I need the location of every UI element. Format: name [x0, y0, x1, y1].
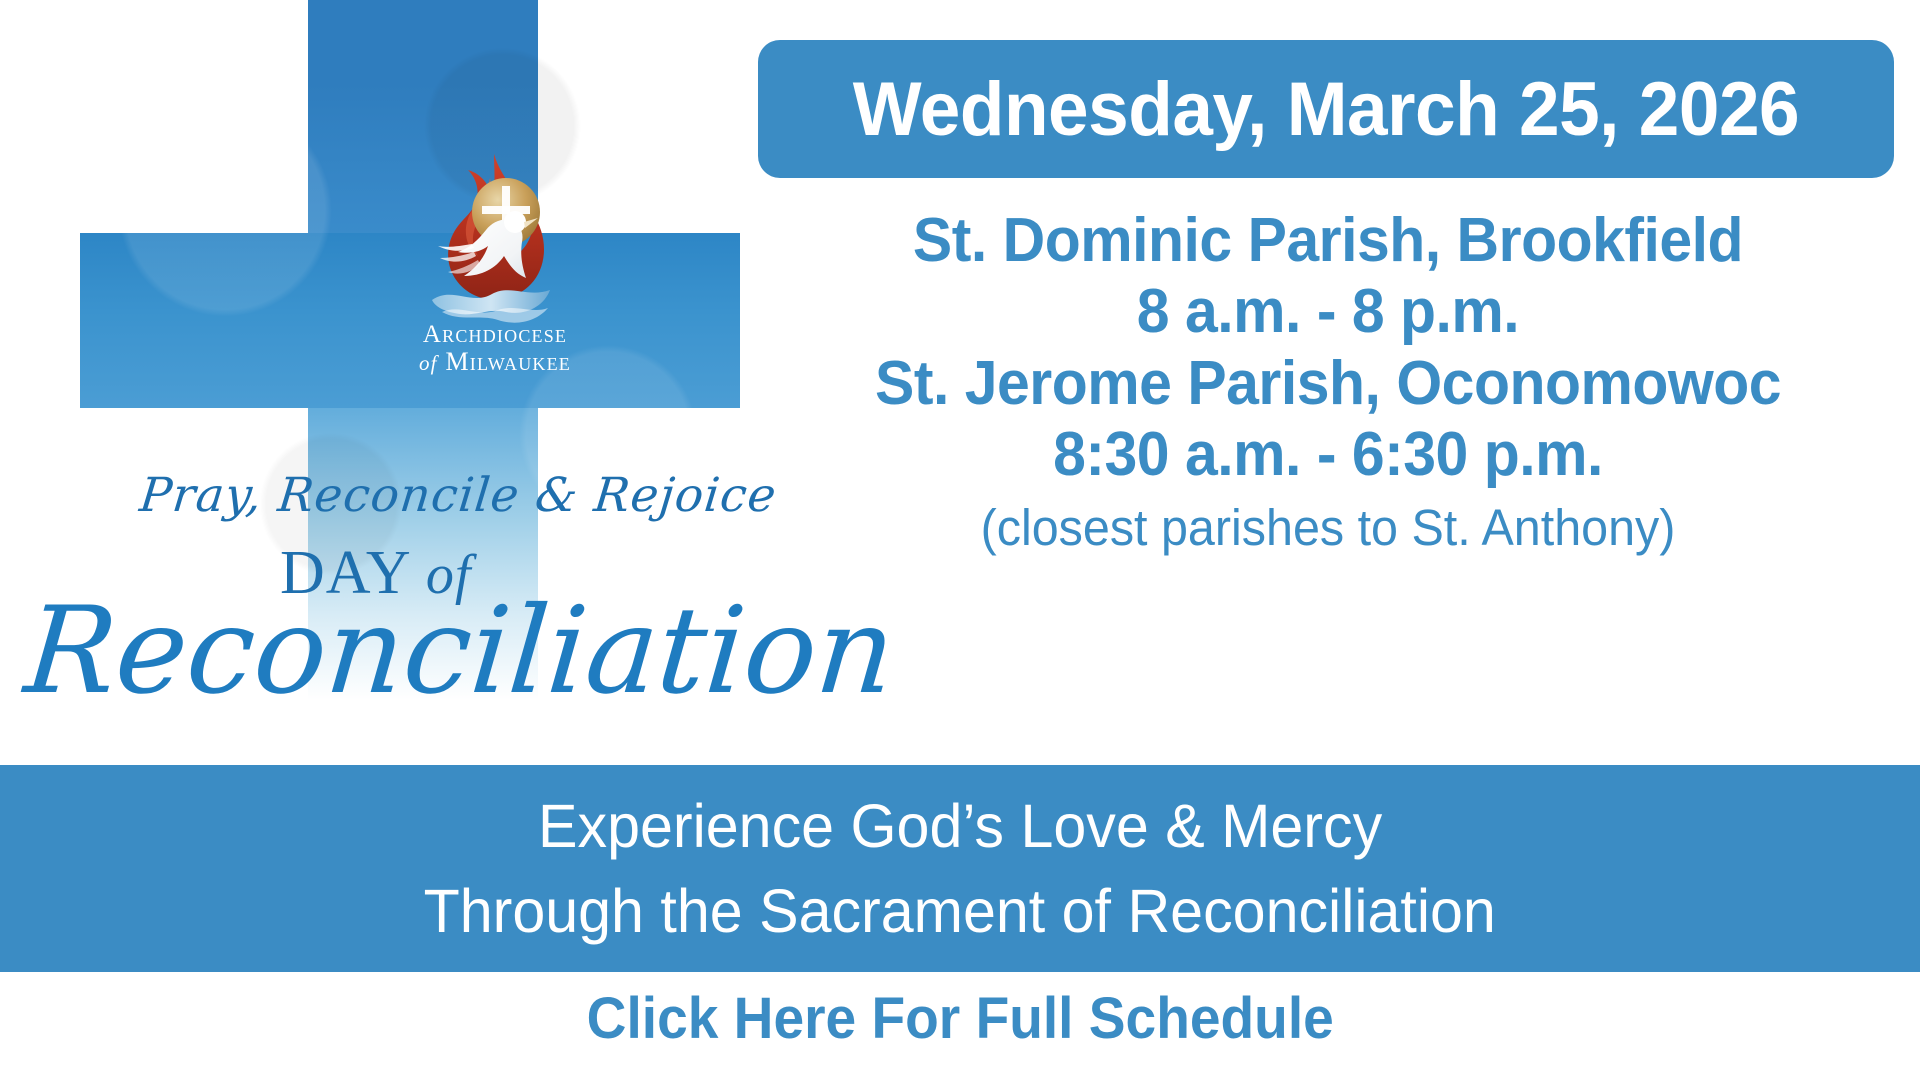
tagline-pray-reconcile-rejoice: Pray, Reconcile & Rejoice: [137, 468, 779, 523]
schedule-note: (closest parishes to St. Anthony): [787, 490, 1870, 567]
archdiocese-wordmark: Archdiocese of Milwaukee: [330, 322, 660, 375]
schedule-line-parish-1: St. Dominic Parish, Brookfield: [787, 205, 1870, 276]
date-banner: Wednesday, March 25, 2026: [758, 40, 1894, 178]
date-banner-text: Wednesday, March 25, 2026: [853, 66, 1799, 153]
reconciliation-script-title: Reconciliation: [21, 592, 900, 712]
wordmark-milwaukee: Milwaukee: [445, 347, 571, 376]
message-band: Experience God’s Love & Mercy Through th…: [0, 765, 1920, 972]
schedule-line-hours-1: 8 a.m. - 8 p.m.: [787, 276, 1870, 347]
schedule-line-parish-2: St. Jerome Parish, Oconomowoc: [787, 348, 1870, 419]
schedule-block: St. Dominic Parish, Brookfield 8 a.m. - …: [758, 205, 1898, 567]
band-line-1: Experience God’s Love & Mercy: [538, 784, 1382, 868]
wordmark-line-milwaukee: of Milwaukee: [330, 348, 660, 375]
archdiocese-emblem-icon: [398, 148, 588, 348]
wordmark-of: of: [419, 351, 438, 375]
left-artwork: Archdiocese of Milwaukee Pray, Reconcile…: [0, 0, 860, 780]
schedule-line-hours-2: 8:30 a.m. - 6:30 p.m.: [787, 419, 1870, 490]
reconciliation-day-poster: Archdiocese of Milwaukee Pray, Reconcile…: [0, 0, 1920, 1080]
wordmark-line-archdiocese: Archdiocese: [330, 322, 660, 348]
full-schedule-link[interactable]: Click Here For Full Schedule: [0, 985, 1920, 1052]
full-schedule-link-label[interactable]: Click Here For Full Schedule: [586, 985, 1333, 1052]
band-line-2: Through the Sacrament of Reconciliation: [424, 869, 1496, 953]
